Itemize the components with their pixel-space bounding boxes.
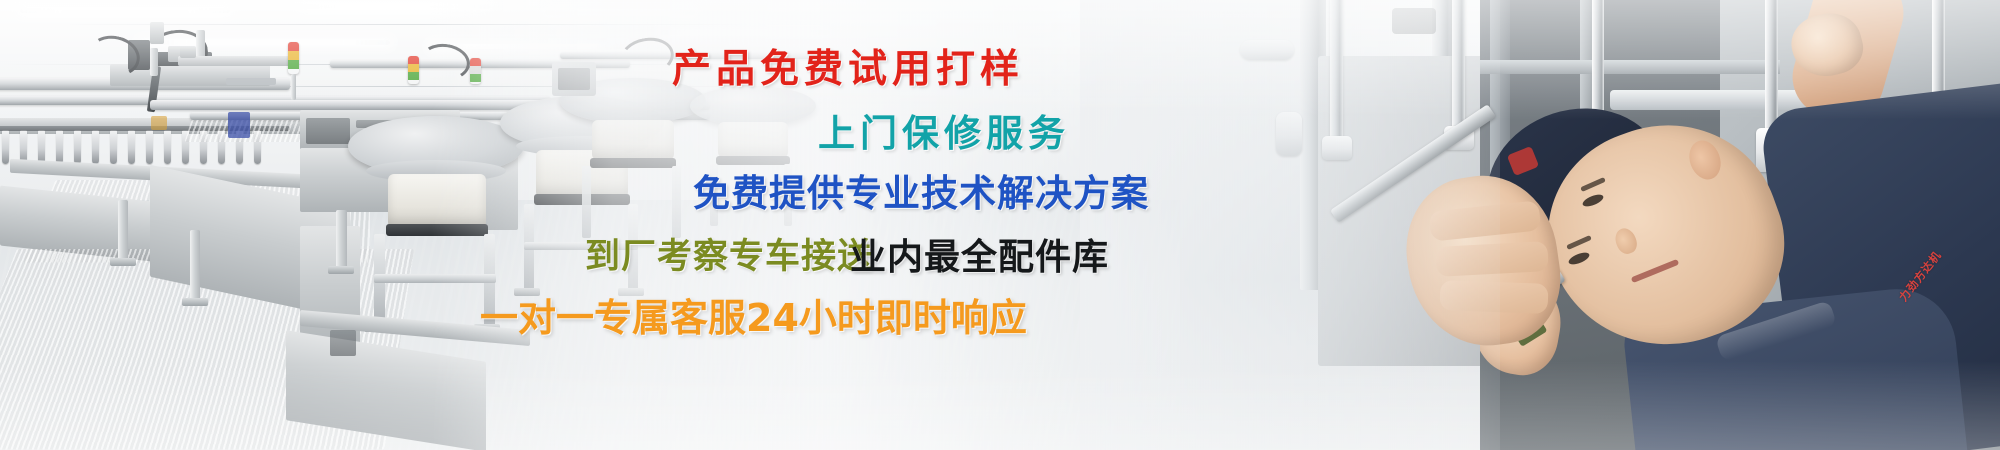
promo-banner: 力劲方达机 <box>0 0 2000 450</box>
tagline-one-to-one-support: 一对一专属客服24小时即时响应 <box>480 287 1027 342</box>
tagline-onsite-warranty-service: 上门保修服务 <box>818 103 1070 157</box>
tagline-full-parts-inventory: 业内最全配件库 <box>850 228 1109 280</box>
tagline-free-technical-solution: 免费提供专业技术解决方案 <box>693 163 1149 217</box>
tagline-free-trial-sampling: 产品免费试用打样 <box>672 38 1024 94</box>
banner-taglines: 产品免费试用打样 上门保修服务 免费提供专业技术解决方案 到厂考察专车接送 业内… <box>0 0 2000 450</box>
tagline-factory-visit-shuttle: 到厂考察专车接送 <box>585 228 873 279</box>
